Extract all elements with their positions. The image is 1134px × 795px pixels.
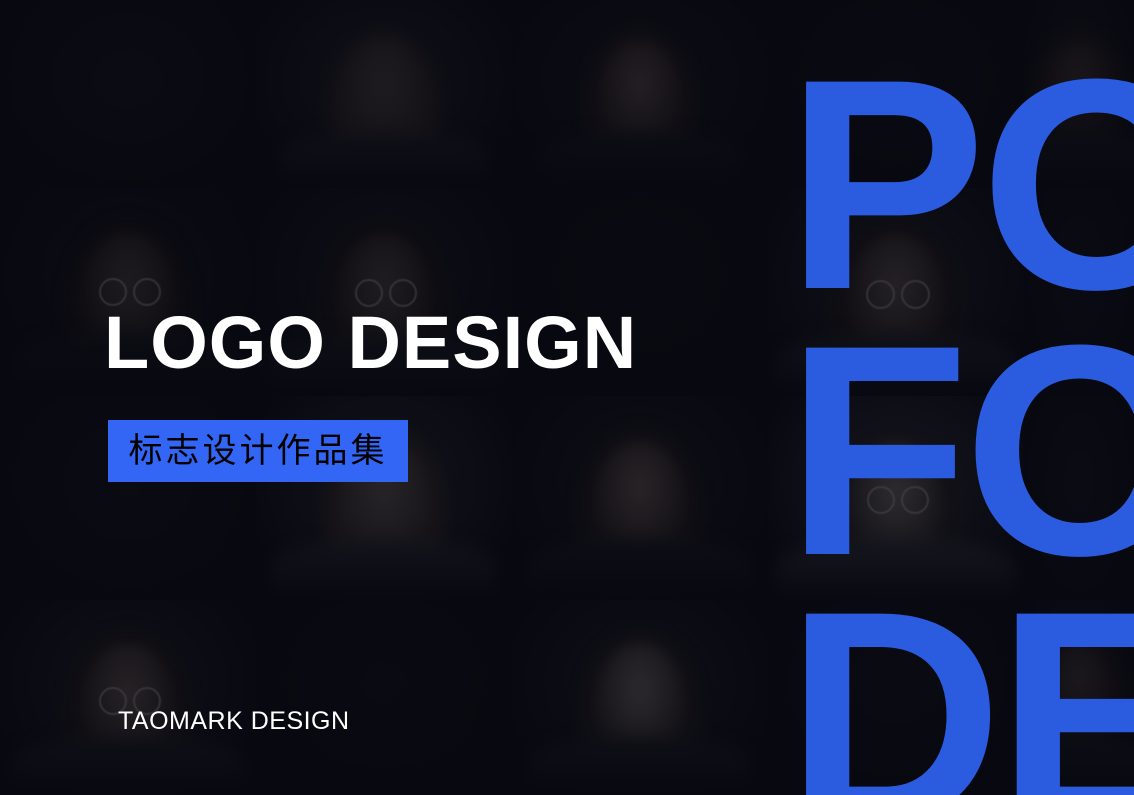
page-title: LOGO DESIGN [104, 306, 637, 380]
brand-name: TAOMARK DESIGN [118, 709, 350, 734]
subtitle-badge: 标志设计作品集 [108, 420, 408, 482]
poster-copy-layer: LOGO DESIGN 标志设计作品集 TAOMARK DESIGN [0, 0, 1134, 795]
subtitle-badge-label: 标志设计作品集 [129, 434, 388, 468]
portfolio-cover-poster: POFODE LOGO DESIGN 标志设计作品集 TAOMARK DESIG… [0, 0, 1134, 795]
